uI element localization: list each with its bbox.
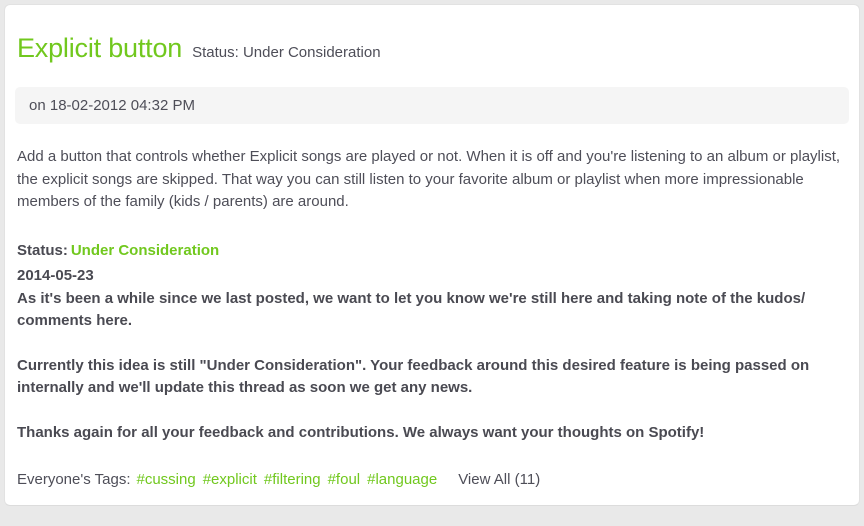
update-block: 2014-05-23 As it's been a while since we… xyxy=(17,265,847,333)
tag-link-foul[interactable]: #foul xyxy=(328,470,361,490)
status-value: Under Consideration xyxy=(71,242,219,259)
view-all-tags-link[interactable]: View All (11) xyxy=(458,470,540,490)
update-body-text: Currently this idea is still "Under Cons… xyxy=(17,355,847,400)
update-date: 2014-05-23 xyxy=(17,265,847,288)
header-status-badge: Status: Under Consideration xyxy=(192,44,380,62)
update-intro-text: As it's been a while since we last poste… xyxy=(17,290,805,330)
posted-date-bar: on 18-02-2012 04:32 PM xyxy=(15,87,849,124)
page-title: Explicit button xyxy=(17,33,182,63)
idea-description: Add a button that controls whether Expli… xyxy=(17,146,847,214)
thread-header: Explicit button Status: Under Considerat… xyxy=(15,5,849,85)
update-thanks-text: Thanks again for all your feedback and c… xyxy=(17,422,847,445)
thread-body: Add a button that controls whether Expli… xyxy=(15,124,849,444)
tag-link-language[interactable]: #language xyxy=(367,470,437,490)
tags-label: Everyone's Tags: xyxy=(17,470,130,490)
tags-row: Everyone's Tags: #cussing #explicit #fil… xyxy=(15,470,849,490)
status-label: Status: xyxy=(17,242,68,259)
tag-link-filtering[interactable]: #filtering xyxy=(264,470,321,490)
thread-container: Explicit button Status: Under Considerat… xyxy=(5,5,859,506)
thread-card: Explicit button Status: Under Considerat… xyxy=(4,4,860,506)
status-line: Status:Under Consideration xyxy=(17,240,847,263)
tag-link-explicit[interactable]: #explicit xyxy=(203,470,257,490)
tag-link-cussing[interactable]: #cussing xyxy=(136,470,195,490)
